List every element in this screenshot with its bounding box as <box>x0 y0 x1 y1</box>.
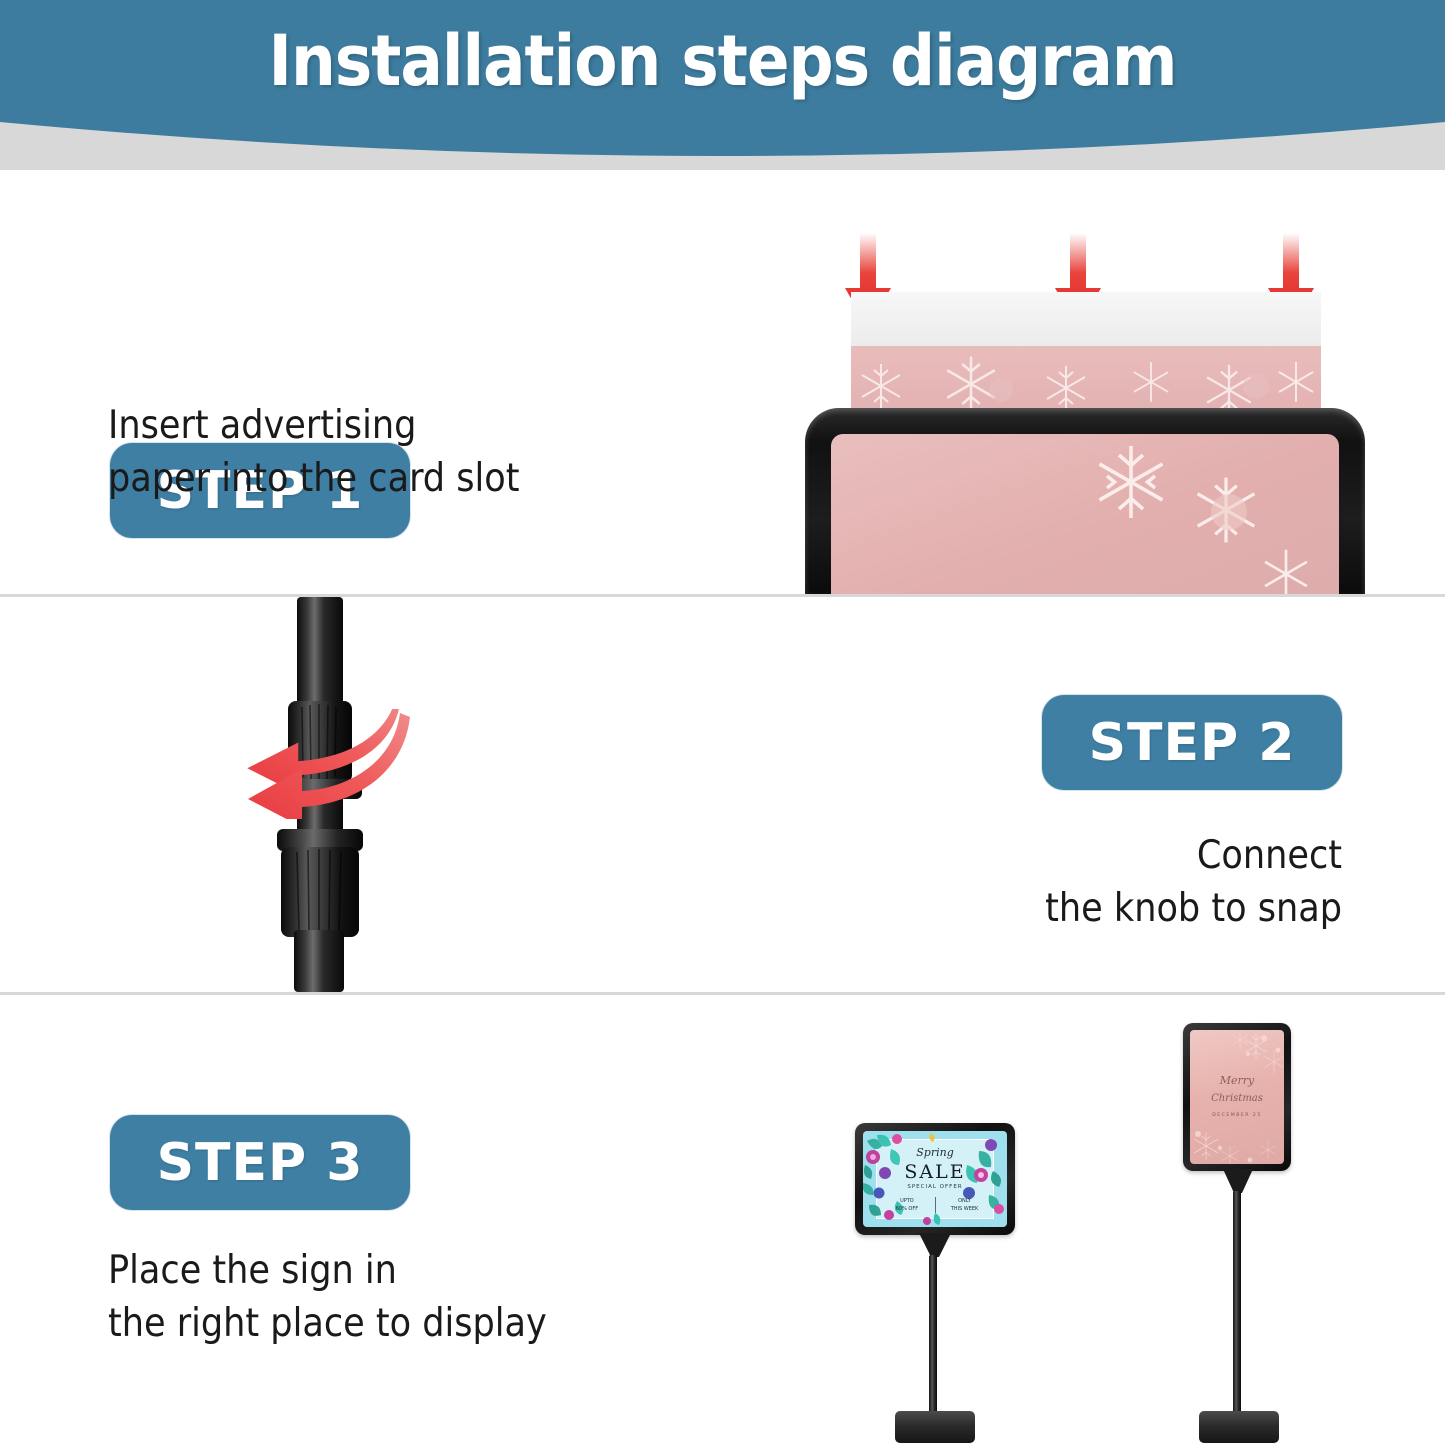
snowflake-pattern-icon <box>851 346 1321 412</box>
christmas-script-line-2: Christmas <box>1190 1093 1284 1104</box>
spring-sign-face: Spring SALE SPECIAL OFFER UPTO 60% OFF O… <box>863 1131 1007 1227</box>
step-2-badge-label: STEP 2 <box>1089 713 1296 773</box>
christmas-sign-frame: Merry Christmas DECEMBER 25 <box>1183 1023 1291 1171</box>
christmas-sign-face: Merry Christmas DECEMBER 25 <box>1190 1030 1284 1164</box>
page-title: Installation steps diagram <box>0 20 1445 102</box>
spring-stand-pole <box>929 1255 937 1423</box>
pole-lower-section <box>294 930 344 992</box>
spring-deal-left: UPTO 60% OFF <box>883 1198 931 1213</box>
step-1-description: Insert advertising paper into the card s… <box>108 400 628 505</box>
sign-stand-spring: Spring SALE SPECIAL OFFER UPTO 60% OFF O… <box>855 1123 1025 1445</box>
spring-script-text: Spring <box>863 1146 1007 1159</box>
christmas-stand-pole <box>1233 1191 1241 1423</box>
pole-upper-section <box>297 597 343 715</box>
rotate-arrow-icon <box>222 709 412 819</box>
sign-stand-christmas: Merry Christmas DECEMBER 25 <box>1165 1023 1325 1445</box>
infographic-canvas: Installation steps diagram STEP 1 Insert… <box>0 0 1445 1445</box>
spring-stand-base <box>895 1411 975 1443</box>
spring-deal-right: ONLY THIS WEEK <box>941 1198 989 1213</box>
spring-headline: SALE <box>863 1161 1007 1183</box>
advertising-paper-top-edge <box>851 292 1321 346</box>
step-3-row: STEP 3 Place the sign in the right place… <box>0 995 1445 1445</box>
step-1-row: STEP 1 Insert advertising paper into the… <box>0 170 1445 594</box>
knob-ribbing-icon <box>281 847 359 937</box>
sign-frame-black <box>805 408 1365 594</box>
spring-subhead: SPECIAL OFFER <box>863 1184 1007 1190</box>
spring-sign-frame: Spring SALE SPECIAL OFFER UPTO 60% OFF O… <box>855 1123 1015 1235</box>
advertising-paper-pink <box>851 346 1321 412</box>
header-banner: Installation steps diagram <box>0 0 1445 170</box>
christmas-date-line: DECEMBER 25 <box>1190 1113 1284 1118</box>
snowflake-pattern-icon <box>831 434 1339 594</box>
christmas-stand-base <box>1199 1411 1279 1443</box>
step-3-badge-label: STEP 3 <box>157 1133 364 1193</box>
step-2-badge: STEP 2 <box>1042 695 1342 790</box>
step-3-description: Place the sign in the right place to dis… <box>108 1245 668 1350</box>
step-3-badge: STEP 3 <box>110 1115 410 1210</box>
knob-lower-grip <box>281 847 359 937</box>
step-2-row: STEP 2 Connect the knob to snap <box>0 597 1445 992</box>
christmas-script-line-1: Merry <box>1190 1074 1284 1087</box>
step-2-description: Connect the knob to snap <box>842 830 1342 935</box>
frame-inner-pink-sheet <box>831 434 1339 594</box>
spring-deal-divider <box>935 1197 936 1212</box>
